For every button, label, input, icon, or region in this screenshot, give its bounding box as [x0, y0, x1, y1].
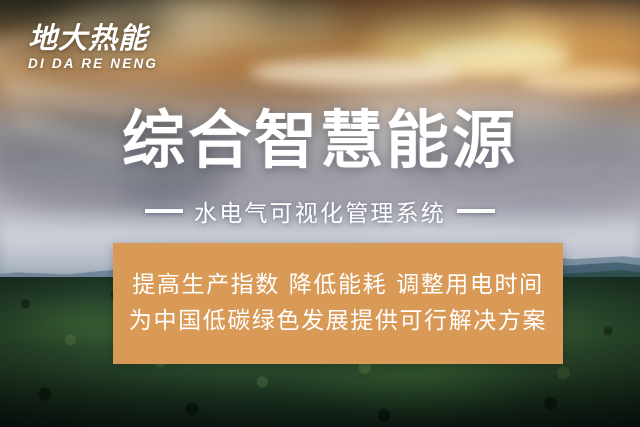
page-title: 综合智慧能源 — [0, 106, 640, 174]
promo-poster: 地大热能 DI DA RE NENG 综合智慧能源 水电气可视化管理系统 提高生… — [0, 0, 640, 427]
page-subtitle: 水电气可视化管理系统 — [194, 194, 446, 228]
callout-box: 提高生产指数 降低能耗 调整用电时间 为中国低碳绿色发展提供可行解决方案 — [113, 243, 563, 364]
dash-right-icon — [457, 209, 495, 213]
dash-left-icon — [145, 209, 183, 213]
callout-line-1: 提高生产指数 降低能耗 调整用电时间 — [132, 273, 543, 298]
brand-name-pinyin: DI DA RE NENG — [28, 56, 158, 71]
brand-logo: 地大热能 DI DA RE NENG — [28, 24, 158, 71]
callout-line-2: 为中国低碳绿色发展提供可行解决方案 — [129, 309, 547, 334]
subtitle-row: 水电气可视化管理系统 — [0, 194, 640, 228]
brand-name-cn: 地大热能 — [28, 24, 158, 53]
